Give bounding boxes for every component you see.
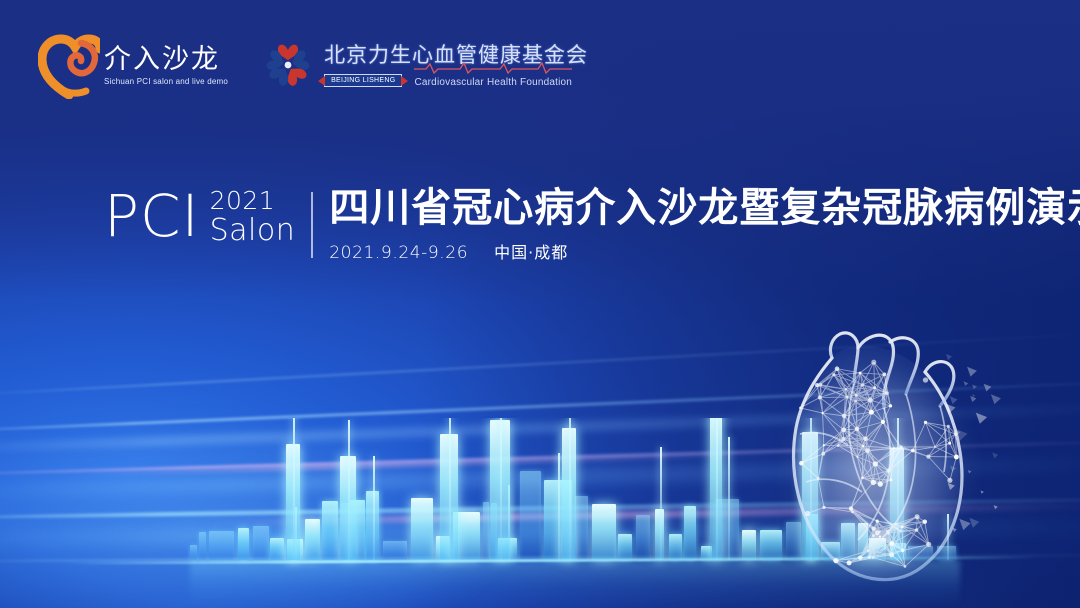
brand-salon: Salon [210, 216, 296, 246]
conference-poster: 介入沙龙 Sichuan PCI salon and live demo [0, 0, 1080, 608]
event-date: 2021.9.24-9.26 [329, 243, 468, 263]
logo-lisheng-english: Cardiovascular Health Foundation [414, 77, 572, 88]
logo-pci-chinese: 介入沙龙 [104, 46, 228, 74]
logo-row: 介入沙龙 Sichuan PCI salon and live demo [38, 33, 588, 99]
title-block: PCI 2021 Salon 四川省冠心病介入沙龙暨复杂冠脉病例演示会 2021… [104, 186, 1080, 263]
logo-pci-english: Sichuan PCI salon and live demo [104, 77, 228, 86]
orange-heart-swirl-icon [38, 33, 100, 99]
brand-pci: PCI [104, 189, 200, 244]
event-location: 中国·成都 [494, 239, 568, 263]
logo-lisheng[interactable]: 北京力生心血管健康基金会 BEIJING LISHENG Cardiovascu… [256, 35, 588, 99]
logo-lisheng-banner: BEIJING LISHENG [324, 74, 402, 87]
pci-lockup: PCI 2021 Salon [104, 186, 295, 246]
chinese-title-block: 四川省冠心病介入沙龙暨复杂冠脉病例演示会 2021.9.24-9.26 中国·成… [329, 186, 1080, 263]
page-title: 四川省冠心病介入沙龙暨复杂冠脉病例演示会 [329, 186, 1080, 230]
pinwheel-hearts-icon [256, 35, 320, 99]
event-meta: 2021.9.24-9.26 中国·成都 [329, 239, 1080, 263]
ecg-line-icon [414, 62, 572, 74]
title-divider [311, 192, 313, 258]
logo-pci-salon[interactable]: 介入沙龙 Sichuan PCI salon and live demo [38, 33, 228, 99]
brand-year: 2021 [210, 188, 296, 213]
